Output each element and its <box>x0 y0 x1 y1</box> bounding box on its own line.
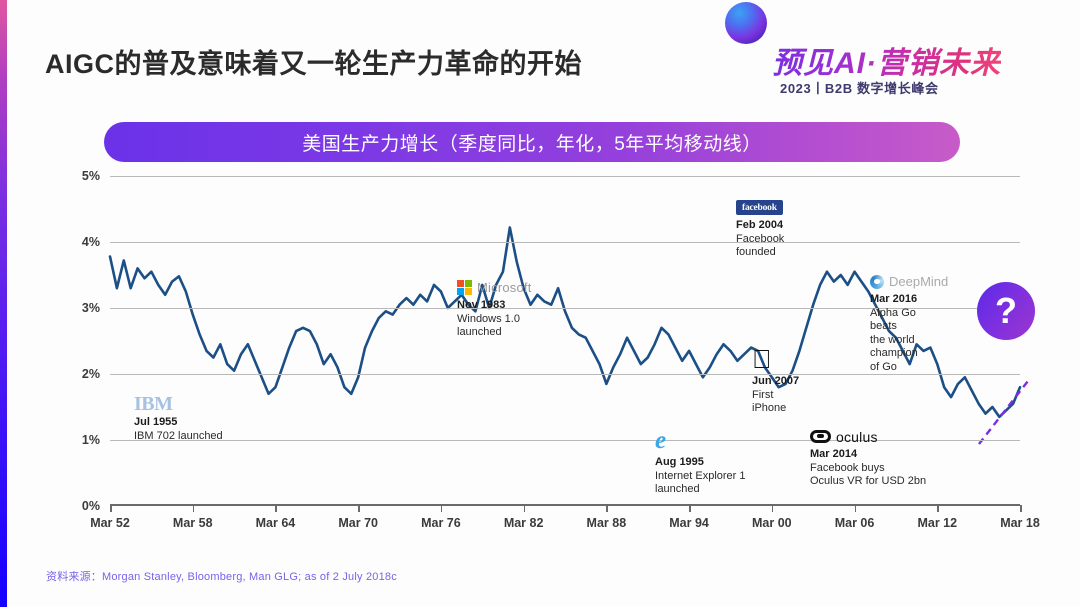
annotation-facebook: facebook Feb 2004 Facebook founded <box>736 199 784 260</box>
x-axis-tick-label: Mar 12 <box>917 516 957 530</box>
annotation-date: Aug 1995 <box>655 456 746 470</box>
x-axis-tick <box>110 505 112 512</box>
annotation-deepmind: DeepMind Mar 2016 Alpha Go beats the wor… <box>870 273 948 374</box>
gridline <box>110 242 1020 243</box>
apple-logo:  <box>752 344 799 374</box>
annotation-desc: founded <box>736 246 784 260</box>
annotation-date: Mar 2014 <box>810 448 926 462</box>
question-mark-glyph: ? <box>995 293 1017 329</box>
annotation-desc: of Go <box>870 361 948 375</box>
gradient-sphere-icon <box>725 2 767 44</box>
gridline <box>110 176 1020 177</box>
facebook-logo: facebook <box>736 199 784 216</box>
y-axis-tick-label: 5% <box>82 169 100 183</box>
annotation-desc: Windows 1.0 <box>457 313 532 327</box>
brand-title: 预见AI·营销未来 <box>772 38 1001 82</box>
x-axis-tick <box>772 505 774 512</box>
apple-icon:  <box>752 347 772 371</box>
y-axis-tick-label: 0% <box>82 499 100 513</box>
y-axis-labels: 0%1%2%3%4%5% <box>38 176 100 516</box>
y-axis-tick-label: 2% <box>82 367 100 381</box>
x-axis-tick-label: Mar 64 <box>256 516 296 530</box>
brand-subtitle: 2023丨B2B 数字增长峰会 <box>780 78 939 97</box>
annotation-date: Mar 2016 <box>870 293 948 307</box>
y-axis-tick-label: 1% <box>82 433 100 447</box>
annotation-desc: Facebook buys <box>810 462 926 476</box>
annotation-microsoft: Microsoft Nov 1983 Windows 1.0 launched <box>457 279 532 340</box>
annotation-desc: beats <box>870 320 948 334</box>
x-axis-tick <box>1020 505 1022 512</box>
annotation-date: Jun 2007 <box>752 375 799 389</box>
x-axis-tick <box>689 505 691 512</box>
annotation-apple:  Jun 2007 First iPhone <box>752 344 799 416</box>
annotation-desc: iPhone <box>752 402 799 416</box>
annotation-desc: Facebook <box>736 233 784 247</box>
x-axis-tick-label: Mar 82 <box>504 516 544 530</box>
x-axis-tick <box>524 505 526 512</box>
internet-explorer-logo: e <box>655 426 746 456</box>
gridline <box>110 374 1020 375</box>
y-axis-tick-label: 4% <box>82 235 100 249</box>
x-axis-tick-label: Mar 94 <box>669 516 709 530</box>
y-axis-tick-label: 3% <box>82 301 100 315</box>
annotation-desc: Oculus VR for USD 2bn <box>810 475 926 489</box>
event-brand-lockup: 预见AI·营销未来 2023丨B2B 数字增长峰会 <box>722 8 1052 100</box>
oculus-logo: oculus <box>810 428 926 445</box>
x-axis-tick-label: Mar 70 <box>338 516 378 530</box>
x-axis-tick-label: Mar 88 <box>587 516 627 530</box>
left-accent-stripe <box>0 0 7 607</box>
microsoft-squares-icon <box>457 280 472 295</box>
annotation-desc: the world <box>870 334 948 348</box>
x-axis-tick-label: Mar 18 <box>1000 516 1040 530</box>
deepmind-swirl-icon <box>870 275 884 289</box>
annotation-internet-explorer: e Aug 1995 Internet Explorer 1 launched <box>655 426 746 497</box>
microsoft-logo: Microsoft <box>457 279 532 296</box>
annotation-desc: IBM 702 launched <box>134 430 223 444</box>
annotation-desc: launched <box>655 483 746 497</box>
x-axis-tick <box>855 505 857 512</box>
chart-title-text: 美国生产力增长（季度同比，年化，5年平均移动线） <box>302 129 762 156</box>
source-note: 资料来源：Morgan Stanley, Bloomberg, Man GLG;… <box>46 568 397 584</box>
annotation-oculus: oculus Mar 2014 Facebook buys Oculus VR … <box>810 428 926 489</box>
annotation-desc: Internet Explorer 1 <box>655 470 746 484</box>
annotation-date: Jul 1955 <box>134 416 223 430</box>
x-axis-tick-label: Mar 00 <box>752 516 792 530</box>
x-axis-tick <box>441 505 443 512</box>
question-mark-badge[interactable]: ? <box>977 282 1035 340</box>
annotation-ibm: IBM Jul 1955 IBM 702 launched <box>134 396 223 443</box>
annotation-desc: First <box>752 389 799 403</box>
x-axis-tick <box>193 505 195 512</box>
x-axis-tick <box>275 505 277 512</box>
x-axis-tick <box>358 505 360 512</box>
deepmind-logo: DeepMind <box>870 273 948 290</box>
x-axis-labels: Mar 52Mar 58Mar 64Mar 70Mar 76Mar 82Mar … <box>110 516 1020 540</box>
annotation-desc: champion <box>870 347 948 361</box>
x-axis-tick-label: Mar 58 <box>173 516 213 530</box>
annotation-date: Nov 1983 <box>457 299 532 313</box>
x-axis-tick-label: Mar 06 <box>835 516 875 530</box>
oculus-headset-icon <box>810 430 831 443</box>
chart-title-banner: 美国生产力增长（季度同比，年化，5年平均移动线） <box>104 122 960 162</box>
x-axis-tick <box>606 505 608 512</box>
annotation-desc: launched <box>457 326 532 340</box>
ibm-logo: IBM <box>134 396 223 413</box>
x-axis-tick-label: Mar 76 <box>421 516 461 530</box>
annotation-desc: Alpha Go <box>870 307 948 321</box>
page-title: AIGC的普及意味着又一轮生产力革命的开始 <box>45 42 582 81</box>
x-axis-tick <box>937 505 939 512</box>
annotation-date: Feb 2004 <box>736 219 784 233</box>
x-axis-tick-label: Mar 52 <box>90 516 130 530</box>
